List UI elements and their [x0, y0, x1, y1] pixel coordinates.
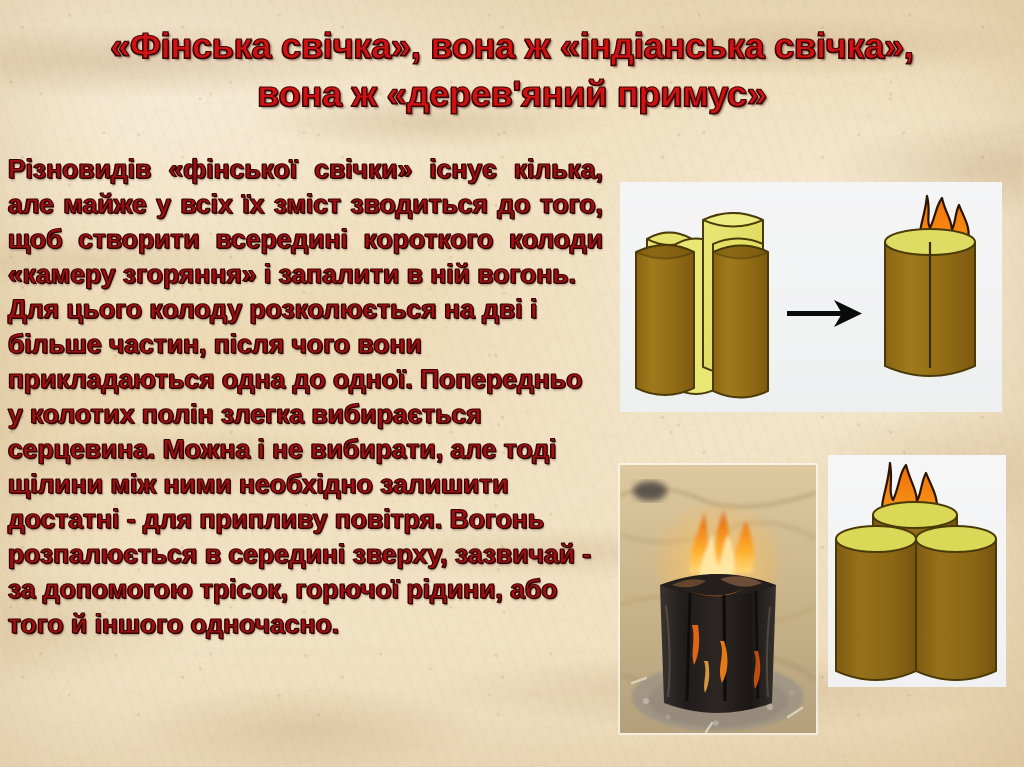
charred-log	[660, 574, 776, 713]
body-paragraph-2: Для цього колоду розколюється на дві і б…	[8, 292, 603, 642]
assembled-burning-log	[885, 196, 975, 376]
log-right	[916, 526, 996, 680]
three-log-svg	[828, 455, 1006, 687]
three-log-diagram	[828, 455, 1006, 687]
body-text-block: Різновидів «фінської свічки» існує кільк…	[8, 152, 603, 642]
burning-log-photo-svg	[620, 465, 816, 733]
split-log-diagram	[620, 182, 1002, 412]
burning-finnish-candle-photo	[620, 465, 816, 733]
split-log-svg	[620, 182, 1002, 412]
slide-title: «Фінська свічка», вона ж «індіанська сві…	[28, 22, 996, 118]
slide-canvas: «Фінська свічка», вона ж «індіанська сві…	[0, 0, 1024, 767]
body-paragraph-1: Різновидів «фінської свічки» існує кільк…	[8, 152, 603, 292]
transformation-arrow-icon	[787, 300, 862, 327]
split-log-right-half	[703, 213, 768, 398]
log-left	[836, 526, 916, 680]
